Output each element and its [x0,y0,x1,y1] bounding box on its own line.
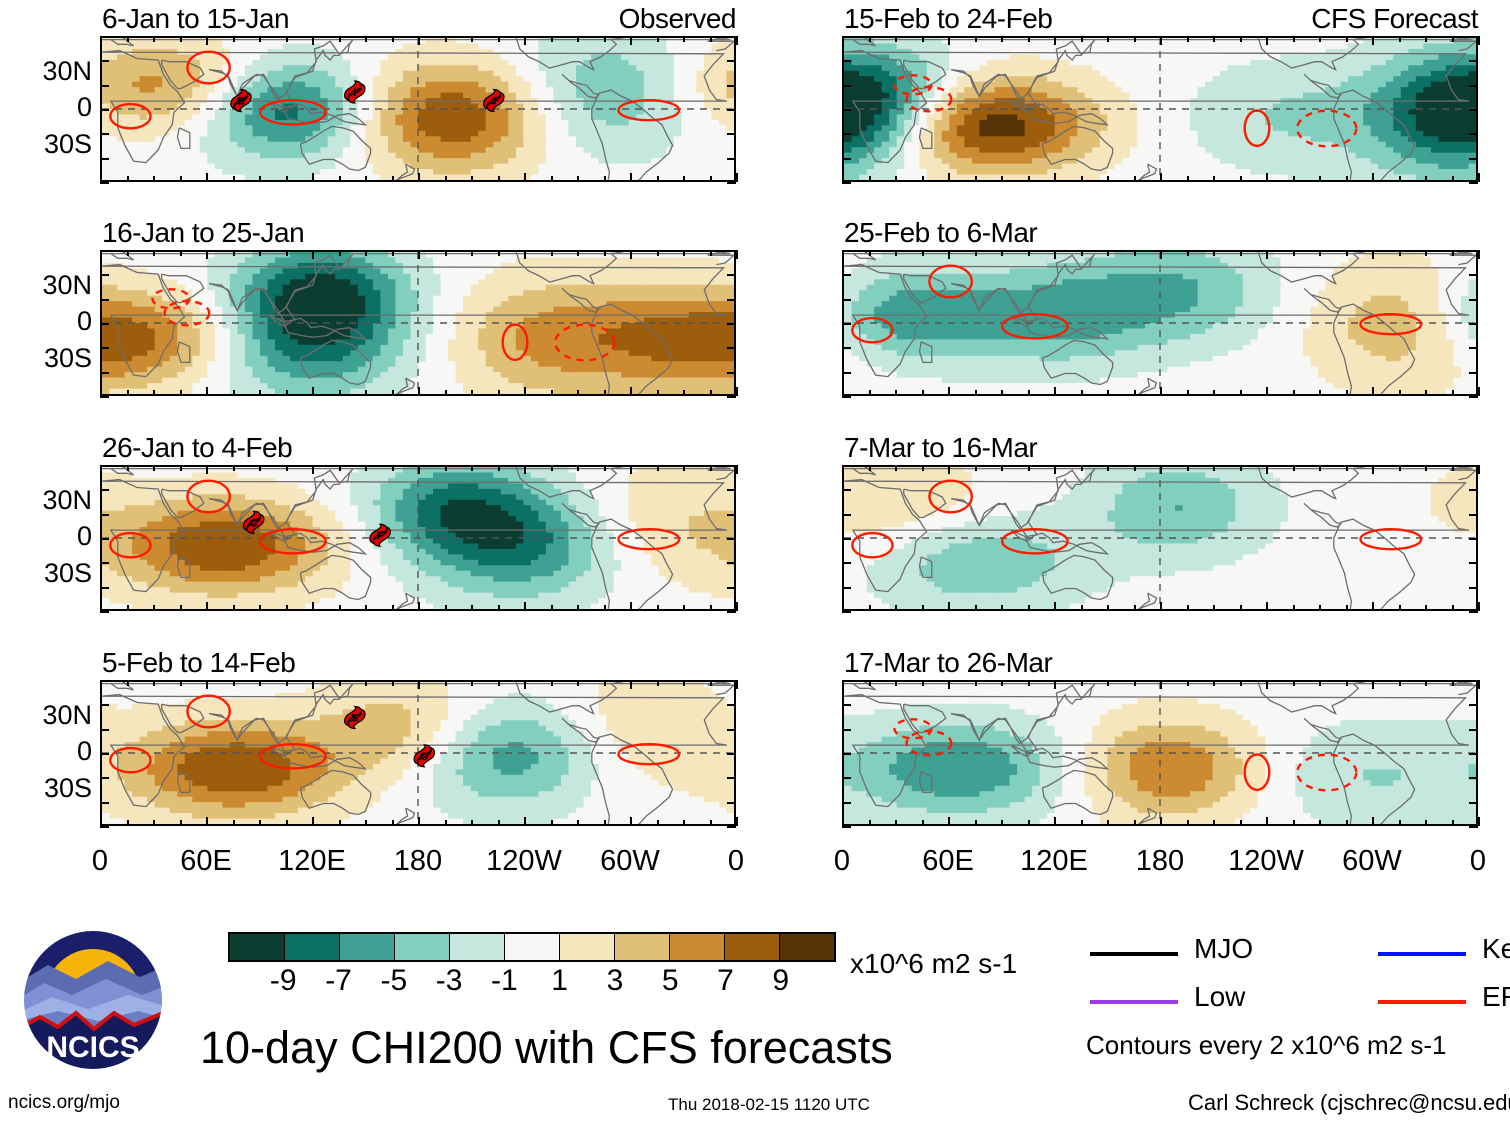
axis-tick [1469,85,1478,87]
map-field-cfs-3 [844,467,1476,609]
axis-tick [1107,465,1109,471]
axis-tick [1213,176,1215,182]
axis-tick [727,753,736,755]
axis-tick [842,396,851,398]
axis-tick [365,176,367,182]
axis-tick [842,158,851,160]
axis-tick [1478,817,1480,826]
axis-tick [445,680,447,686]
axis-tick [206,250,208,259]
x-tick-label: 120E [1020,845,1088,878]
axis-tick [1399,250,1401,256]
axis-tick [657,820,659,826]
axis-tick [1213,820,1215,826]
y-tick-label: 30S [0,343,92,374]
axis-tick [1266,680,1268,689]
axis-tick [842,60,851,62]
axis-tick [180,36,182,42]
axis-tick [1293,605,1295,611]
legend-label-kelvin-x2: Kelvin x2 [1482,933,1510,965]
axis-tick [727,133,736,135]
axis-tick [1134,605,1136,611]
axis-tick [100,562,109,564]
axis-tick [683,820,685,826]
axis-tick [683,250,685,256]
axis-tick [657,176,659,182]
axis-tick [1452,605,1454,611]
axis-tick [180,176,182,182]
axis-tick [1478,465,1480,474]
column-header-observed: Observed [436,3,736,35]
axis-tick [498,605,500,611]
axis-tick [1293,176,1295,182]
axis-tick [727,704,736,706]
axis-tick [524,36,526,45]
axis-tick [604,36,606,42]
axis-tick [100,611,109,613]
axis-tick [1372,602,1374,611]
axis-tick [339,680,341,686]
axis-tick [339,176,341,182]
footer-timestamp: Thu 2018-02-15 1120 UTC [668,1095,870,1115]
axis-tick [842,680,851,682]
axis-tick [259,390,261,396]
axis-tick [727,396,736,398]
x-tick-label: 180 [1136,845,1184,878]
axis-tick [1372,465,1374,474]
axis-tick [727,538,736,540]
axis-tick [471,36,473,42]
axis-tick [1134,176,1136,182]
footer-website[interactable]: ncics.org/mjo [8,1092,120,1114]
axis-tick [418,817,420,826]
axis-tick [630,250,632,259]
svg-text:J: J [491,96,497,108]
axis-tick [1160,250,1162,259]
axis-tick [127,176,129,182]
colorbar-tick-label: -3 [436,964,463,998]
axis-tick [524,173,526,182]
axis-tick [842,372,851,374]
colorbar-swatch-9 [725,934,780,960]
axis-tick [233,465,235,471]
axis-tick [1469,36,1478,38]
axis-tick [1469,133,1478,135]
axis-tick [1399,465,1401,471]
axis-tick [551,680,553,686]
axis-tick [1240,176,1242,182]
colorbar-swatch-0 [230,934,285,960]
axis-tick [471,465,473,471]
axis-tick [1054,36,1056,45]
column-header-cfs: CFS Forecast [1178,3,1478,35]
svg-text:B: B [237,96,245,108]
axis-tick [180,820,182,826]
colorbar-swatch-5 [505,934,560,960]
axis-tick [842,817,844,826]
y-tick-label: 30N [0,270,92,301]
axis-tick [948,602,950,611]
axis-tick [975,36,977,42]
axis-tick [392,465,394,471]
axis-tick [948,817,950,826]
axis-tick [100,173,102,182]
axis-tick [895,250,897,256]
axis-tick [922,36,924,42]
axis-tick [577,605,579,611]
axis-tick [1469,396,1478,398]
axis-tick [1240,820,1242,826]
axis-tick [180,465,182,471]
axis-tick [1319,680,1321,686]
axis-tick [127,36,129,42]
axis-tick [1187,390,1189,396]
axis-tick [727,489,736,491]
axis-tick [471,680,473,686]
axis-tick [1469,514,1478,516]
axis-tick [577,680,579,686]
axis-tick [392,176,394,182]
axis-tick [1266,817,1268,826]
y-tick-label: 30N [0,485,92,516]
axis-tick [100,396,109,398]
y-tick-label: 0 [0,92,92,123]
axis-tick [727,36,736,38]
axis-tick [1425,605,1427,611]
axis-tick [1107,680,1109,686]
axis-tick [727,182,736,184]
axis-tick [657,390,659,396]
axis-tick [206,680,208,689]
axis-tick [842,133,851,135]
axis-tick [100,514,109,516]
map-field-obs-4: S G [102,682,734,824]
axis-tick [1160,817,1162,826]
axis-tick [1001,176,1003,182]
axis-tick [842,587,851,589]
axis-tick [1469,587,1478,589]
axis-tick [1187,820,1189,826]
axis-tick [1469,729,1478,731]
axis-tick [259,820,261,826]
axis-tick [727,347,736,349]
axis-tick [1028,176,1030,182]
axis-tick [948,680,950,689]
axis-tick [842,347,851,349]
axis-tick [180,390,182,396]
axis-tick [1266,250,1268,259]
plot-area-cfs-4 [842,680,1478,826]
axis-tick [153,465,155,471]
axis-tick [100,36,109,38]
axis-tick [604,176,606,182]
axis-tick [1469,538,1478,540]
axis-tick [392,680,394,686]
axis-tick [1134,680,1136,686]
axis-tick [100,85,109,87]
axis-tick [1469,753,1478,755]
axis-tick [100,299,109,301]
axis-tick [153,250,155,256]
ncics-logo: NCICS [18,925,168,1075]
panel-title-cfs-4: 17-Mar to 26-Mar [844,647,1052,679]
axis-tick [1134,820,1136,826]
axis-tick [842,85,851,87]
axis-tick [1478,680,1480,689]
axis-tick [1469,777,1478,779]
axis-tick [498,680,500,686]
axis-tick [1469,680,1478,682]
axis-tick [630,680,632,689]
axis-tick [100,538,109,540]
svg-text:I: I [353,87,356,99]
axis-tick [1160,680,1162,689]
y-tick-label: 0 [0,306,92,337]
map-field-cfs-2 [844,252,1476,394]
axis-tick [1107,390,1109,396]
axis-tick [233,605,235,611]
axis-tick [948,465,950,474]
axis-tick [206,173,208,182]
axis-tick [842,173,844,182]
plot-area-cfs-3 [842,465,1478,611]
axis-tick [524,817,526,826]
axis-tick [657,250,659,256]
axis-tick [1452,176,1454,182]
axis-tick [1081,465,1083,471]
axis-tick [895,605,897,611]
axis-tick [736,36,738,45]
axis-tick [727,250,736,252]
legend-line-low [1090,1000,1178,1004]
colorbar-tick-label: -1 [491,964,518,998]
axis-tick [710,36,712,42]
map-field-obs-3: C F [102,467,734,609]
axis-tick [498,820,500,826]
colorbar-tick-label: -5 [380,964,407,998]
axis-tick [630,465,632,474]
axis-tick [100,323,109,325]
axis-tick [975,820,977,826]
axis-tick [1399,820,1401,826]
axis-tick [1081,250,1083,256]
axis-tick [657,465,659,471]
axis-tick [1469,109,1478,111]
axis-tick [551,176,553,182]
axis-tick [1469,611,1478,613]
axis-tick [259,36,261,42]
axis-tick [392,390,394,396]
axis-tick [365,36,367,42]
axis-tick [100,817,102,826]
axis-tick [1213,36,1215,42]
axis-tick [727,802,736,804]
logo-text: NCICS [46,1031,139,1064]
axis-tick [445,465,447,471]
axis-tick [922,465,924,471]
axis-tick [259,176,261,182]
axis-tick [100,133,109,135]
axis-tick [975,250,977,256]
axis-tick [736,602,738,611]
axis-tick [1160,602,1162,611]
axis-tick [524,680,526,689]
axis-tick [842,36,851,38]
axis-tick [286,605,288,611]
axis-tick [1081,36,1083,42]
axis-tick [922,390,924,396]
axis-tick [630,602,632,611]
axis-tick [1293,465,1295,471]
axis-tick [736,465,738,474]
axis-tick [710,465,712,471]
axis-tick [286,680,288,686]
x-tick-label: 0 [1470,845,1486,878]
axis-tick [1081,176,1083,182]
axis-tick [1452,36,1454,42]
axis-tick [392,605,394,611]
axis-tick [1469,323,1478,325]
axis-tick [842,489,851,491]
axis-tick [1469,704,1478,706]
axis-tick [127,465,129,471]
axis-tick [1469,182,1478,184]
axis-tick [1478,602,1480,611]
axis-tick [630,173,632,182]
panel-title-cfs-2: 25-Feb to 6-Mar [844,217,1037,249]
axis-tick [1187,680,1189,686]
axis-tick [727,60,736,62]
axis-tick [1028,390,1030,396]
axis-tick [975,605,977,611]
axis-tick [206,387,208,396]
axis-tick [312,680,314,689]
axis-tick [312,465,314,474]
axis-tick [445,36,447,42]
axis-tick [1319,390,1321,396]
axis-tick [392,250,394,256]
legend-label-mjo: MJO [1194,933,1253,965]
axis-tick [727,777,736,779]
colorbar-tick-label: 5 [662,964,679,998]
axis-tick [922,176,924,182]
colorbar-swatch-2 [340,934,395,960]
axis-tick [948,387,950,396]
y-tick-label: 30S [0,773,92,804]
map-field-obs-2 [102,252,734,394]
plot-area-cfs-1 [842,36,1478,182]
axis-tick [869,36,871,42]
x-tick-label: 180 [394,845,442,878]
axis-tick [1054,173,1056,182]
axis-tick [710,250,712,256]
x-tick-label: 120W [486,845,562,878]
x-tick-label: 60E [180,845,232,878]
axis-tick [922,605,924,611]
axis-tick [100,60,109,62]
axis-tick [1240,680,1242,686]
axis-tick [842,514,851,516]
axis-tick [1266,36,1268,45]
axis-tick [233,36,235,42]
axis-tick [418,465,420,474]
axis-tick [1293,390,1295,396]
colorbar-swatch-6 [560,934,615,960]
axis-tick [604,820,606,826]
axis-tick [1425,36,1427,42]
axis-tick [1469,347,1478,349]
axis-tick [948,36,950,45]
axis-tick [233,680,235,686]
axis-tick [1469,562,1478,564]
axis-tick [127,605,129,611]
axis-tick [1372,387,1374,396]
y-tick-label: 30N [0,700,92,731]
axis-tick [153,36,155,42]
axis-tick [100,602,102,611]
axis-tick [100,753,109,755]
axis-tick [1240,465,1242,471]
axis-tick [1452,820,1454,826]
axis-tick [206,36,208,45]
axis-tick [127,680,129,686]
axis-tick [727,680,736,682]
axis-tick [498,390,500,396]
axis-tick [1134,390,1136,396]
axis-tick [498,465,500,471]
axis-tick [339,36,341,42]
axis-tick [100,109,109,111]
axis-tick [1372,680,1374,689]
axis-tick [524,602,526,611]
axis-tick [471,820,473,826]
axis-tick [100,704,109,706]
panel-title-cfs-1: 15-Feb to 24-Feb [844,3,1052,35]
axis-tick [1213,465,1215,471]
axis-tick [842,465,851,467]
axis-tick [1187,176,1189,182]
panel-title-obs-2: 16-Jan to 25-Jan [102,217,304,249]
axis-tick [1054,680,1056,689]
plot-area-obs-4: S G [100,680,736,826]
axis-tick [233,820,235,826]
axis-tick [869,250,871,256]
legend-label-er: ER [1482,981,1510,1013]
axis-tick [1266,602,1268,611]
axis-tick [1372,250,1374,259]
axis-tick [630,36,632,45]
axis-tick [392,36,394,42]
axis-tick [551,36,553,42]
axis-tick [1399,176,1401,182]
axis-tick [1107,820,1109,826]
axis-tick [1478,250,1480,259]
axis-tick [604,250,606,256]
axis-tick [286,250,288,256]
axis-tick [153,605,155,611]
axis-tick [577,36,579,42]
axis-tick [842,729,851,731]
axis-tick [1266,387,1268,396]
axis-tick [1054,602,1056,611]
axis-tick [418,36,420,45]
axis-tick [736,817,738,826]
axis-tick [710,820,712,826]
axis-tick [418,387,420,396]
axis-tick [1469,802,1478,804]
axis-tick [1425,250,1427,256]
x-tick-label: 0 [834,845,850,878]
